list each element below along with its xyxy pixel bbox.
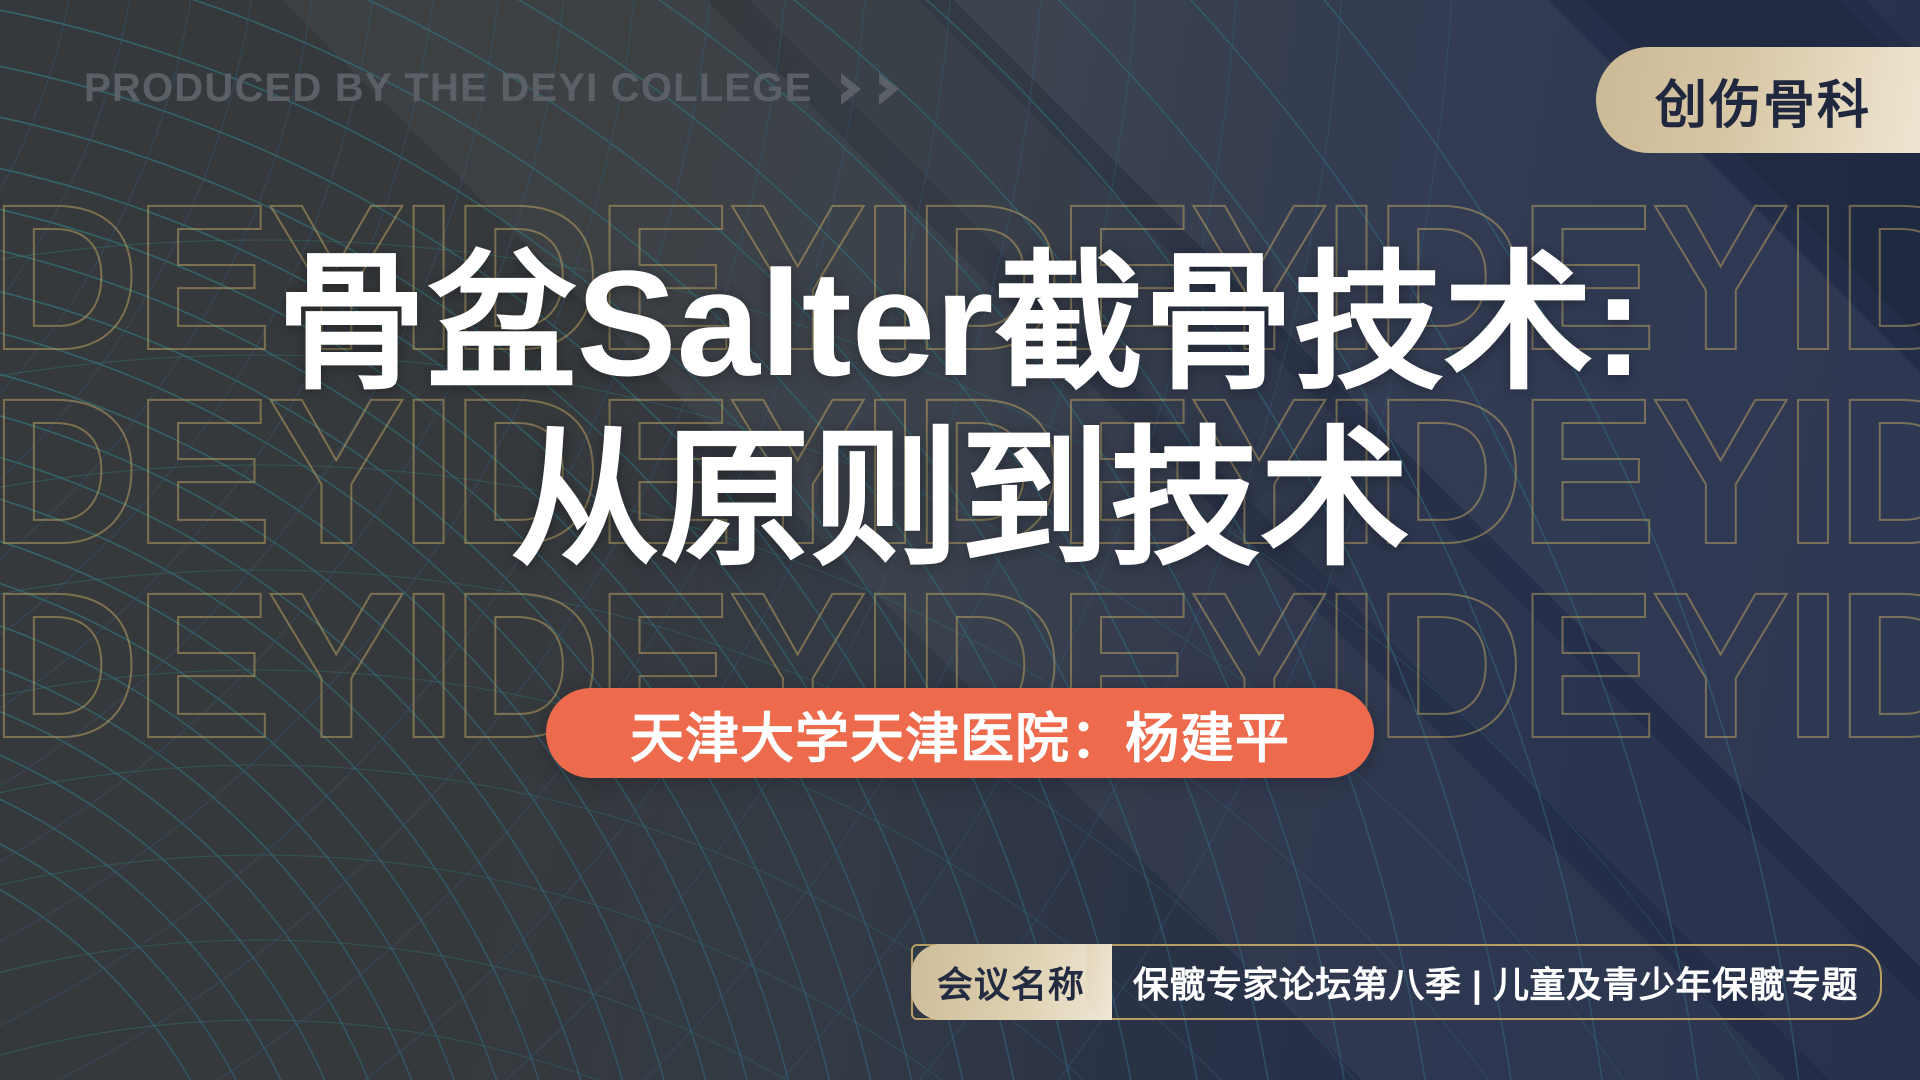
meeting-name-bar: 会议名称 保髋专家论坛第八季 | 儿童及青少年保髋专题 [911, 944, 1882, 1020]
title-line-2: 从原则到技术 [0, 412, 1920, 588]
slide-canvas: DEYIDEYIDEYIDEYIDEYIDEYI DEYIDEYIDEYIDEY… [0, 0, 1920, 1080]
category-badge-label: 创伤骨科 [1655, 63, 1871, 138]
speaker-pill: 天津大学天津医院：杨建平 [546, 688, 1374, 778]
speaker-label: 天津大学天津医院：杨建平 [630, 694, 1290, 773]
category-badge: 创伤骨科 [1596, 47, 1920, 153]
meeting-name-tag: 会议名称 [911, 944, 1111, 1020]
title-line-1: 骨盆Salter截骨技术: [0, 236, 1920, 412]
meeting-name-value-label: 保髋专家论坛第八季 | 儿童及青少年保髋专题 [1133, 956, 1858, 1008]
producer-kicker-label: PRODUCED BY THE DEYI COLLEGE [84, 66, 813, 111]
meeting-name-tag-label: 会议名称 [937, 956, 1085, 1008]
producer-kicker: PRODUCED BY THE DEYI COLLEGE [84, 66, 917, 111]
double-chevron-right-icon [839, 69, 917, 109]
slide-title: 骨盆Salter截骨技术: 从原则到技术 [0, 236, 1920, 587]
meeting-name-value: 保髋专家论坛第八季 | 儿童及青少年保髋专题 [1111, 944, 1882, 1020]
